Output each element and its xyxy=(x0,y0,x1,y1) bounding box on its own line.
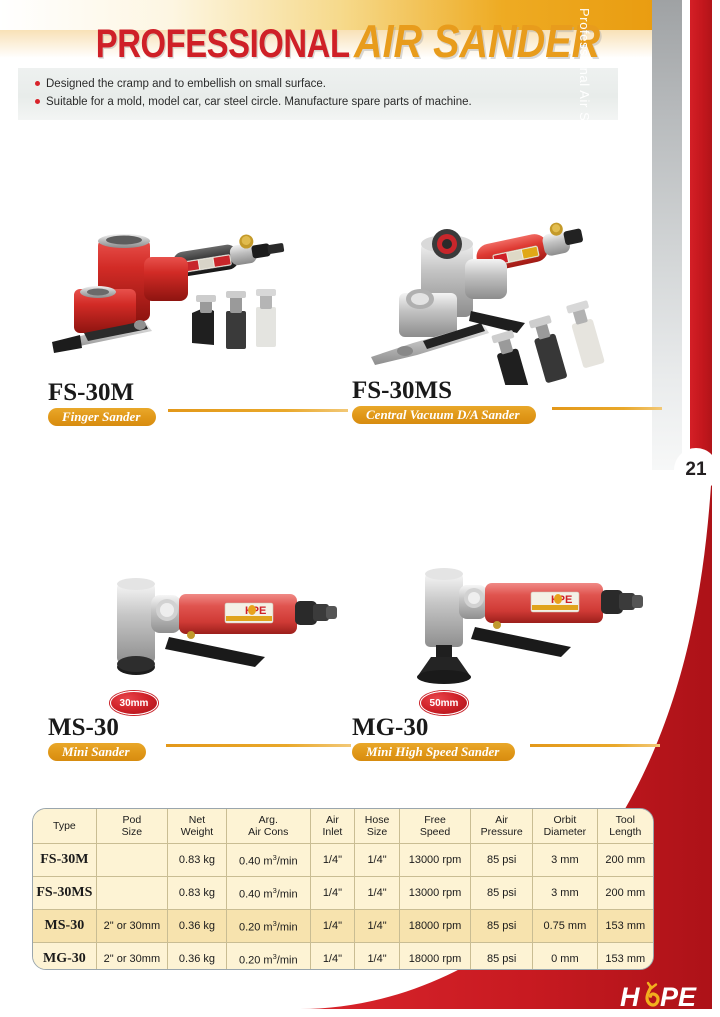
cell-net-weight: 0.83 kg xyxy=(168,844,227,877)
cell-air-pressure: 85 psi xyxy=(471,877,533,910)
cell-pod-size: 2" or 30mm xyxy=(96,943,167,971)
col-header-air-cons: Arg. Air Cons xyxy=(226,809,310,844)
cell-air-cons: 0.40 m3/min xyxy=(226,877,310,910)
cell-air-pressure: 85 psi xyxy=(471,910,533,943)
cell-hose-size: 1/4" xyxy=(355,910,400,943)
sidebar-red-strip xyxy=(690,0,712,475)
product-label-mg-30: MG-30 Mini High Speed Sander xyxy=(352,715,662,761)
cell-tool-length: 200 mm xyxy=(597,877,653,910)
cell-air-pressure: 85 psi xyxy=(471,844,533,877)
product-model-name: FS-30M xyxy=(48,380,348,406)
product-subtitle: Mini Sander xyxy=(48,743,146,761)
cell-orbit-diameter: 0.75 mm xyxy=(533,910,597,943)
cell-free-speed: 18000 rpm xyxy=(399,943,470,971)
product-model-name: MG-30 xyxy=(352,715,662,741)
product-label-ms-30: MS-30 Mini Sander xyxy=(48,715,348,761)
cell-type: MS-30 xyxy=(33,910,96,943)
col-header-hose-size: Hose Size xyxy=(355,809,400,844)
hope-logo-text-pe: PE xyxy=(660,982,697,1012)
title-professional: PROFESSIONAL xyxy=(96,22,350,67)
sidebar-vertical-text: Professional Air Sander xyxy=(577,8,592,158)
cell-pod-size xyxy=(96,877,167,910)
feature-box: Designed the cramp and to embellish on s… xyxy=(18,68,618,120)
cell-air-inlet: 1/4" xyxy=(310,910,355,943)
product-subtitle: Central Vacuum D/A Sander xyxy=(352,406,536,424)
product-label-fs-30m: FS-30M Finger Sander xyxy=(48,380,348,426)
spec-table-body: FS-30M 0.83 kg 0.40 m3/min 1/4" 1/4" 130… xyxy=(33,844,653,971)
cell-air-inlet: 1/4" xyxy=(310,844,355,877)
product-subtitle-row: Finger Sander xyxy=(48,408,348,426)
page-right-white-edge xyxy=(712,0,720,1017)
feature-list: Designed the cramp and to embellish on s… xyxy=(18,68,618,111)
product-subtitle-row: Central Vacuum D/A Sander xyxy=(352,406,662,424)
list-item: Designed the cramp and to embellish on s… xyxy=(46,75,618,93)
cell-type: FS-30M xyxy=(33,844,96,877)
cell-pod-size xyxy=(96,844,167,877)
table-row: FS-30M 0.83 kg 0.40 m3/min 1/4" 1/4" 130… xyxy=(33,844,653,877)
product-photo-fs-30ms xyxy=(365,215,665,385)
cell-air-inlet: 1/4" xyxy=(310,943,355,971)
product-photo-fs-30m xyxy=(40,215,340,375)
cell-orbit-diameter: 0 mm xyxy=(533,943,597,971)
col-header-net-weight: Net Weight xyxy=(168,809,227,844)
cell-orbit-diameter: 3 mm xyxy=(533,844,597,877)
cell-air-pressure: 85 psi xyxy=(471,943,533,971)
product-subtitle-row: Mini High Speed Sander xyxy=(352,743,662,761)
product-subtitle: Finger Sander xyxy=(48,408,156,426)
cell-net-weight: 0.36 kg xyxy=(168,910,227,943)
cell-type: FS-30MS xyxy=(33,877,96,910)
cell-hose-size: 1/4" xyxy=(355,943,400,971)
col-header-tool-length: Tool Length xyxy=(597,809,653,844)
col-header-air-inlet: Air Inlet xyxy=(310,809,355,844)
hope-logo-text-h: H xyxy=(620,982,640,1012)
bullet-icon xyxy=(35,81,40,86)
list-item: Suitable for a mold, model car, car stee… xyxy=(46,93,618,111)
product-photo-mg-30: H PE xyxy=(405,565,655,705)
label-tail-line xyxy=(166,744,351,747)
cell-tool-length: 153 mm xyxy=(597,943,653,971)
spec-table-container: Type Pod Size Net Weight Arg. Air Cons xyxy=(32,808,654,970)
table-row: FS-30MS 0.83 kg 0.40 m3/min 1/4" 1/4" 13… xyxy=(33,877,653,910)
cell-air-cons: 0.20 m3/min xyxy=(226,910,310,943)
cell-type: MG-30 xyxy=(33,943,96,971)
col-header-pod-size: Pod Size xyxy=(96,809,167,844)
cell-free-speed: 18000 rpm xyxy=(399,910,470,943)
cell-free-speed: 13000 rpm xyxy=(399,844,470,877)
cell-net-weight: 0.36 kg xyxy=(168,943,227,971)
spec-table: Type Pod Size Net Weight Arg. Air Cons xyxy=(33,809,653,970)
product-model-name: MS-30 xyxy=(48,715,348,741)
hope-logo: H PE xyxy=(620,979,706,1013)
table-row: MS-30 2" or 30mm 0.36 kg 0.20 m3/min 1/4… xyxy=(33,910,653,943)
label-tail-line xyxy=(530,744,660,747)
catalog-page: PROFESSIONALAIR SANDER Designed the cram… xyxy=(0,0,720,1017)
table-header-row: Type Pod Size Net Weight Arg. Air Cons xyxy=(33,809,653,844)
cell-air-inlet: 1/4" xyxy=(310,877,355,910)
cell-tool-length: 200 mm xyxy=(597,844,653,877)
cell-air-cons: 0.20 m3/min xyxy=(226,943,310,971)
cell-pod-size: 2" or 30mm xyxy=(96,910,167,943)
title-air-sander: AIR SANDER xyxy=(354,14,600,68)
hope-logo-flame-icon xyxy=(647,983,658,1005)
col-header-orbit-diameter: Orbit Diameter xyxy=(533,809,597,844)
cell-orbit-diameter: 3 mm xyxy=(533,877,597,910)
product-size-badge-ms-30: 30mm xyxy=(110,691,158,715)
feature-text: Suitable for a mold, model car, car stee… xyxy=(46,96,472,108)
label-tail-line xyxy=(552,407,662,410)
cell-free-speed: 13000 rpm xyxy=(399,877,470,910)
product-size-badge-mg-30: 50mm xyxy=(420,691,468,715)
feature-text: Designed the cramp and to embellish on s… xyxy=(46,78,326,90)
col-header-air-pressure: Air Pressure xyxy=(471,809,533,844)
page-title: PROFESSIONALAIR SANDER xyxy=(0,14,640,66)
cell-net-weight: 0.83 kg xyxy=(168,877,227,910)
product-model-name: FS-30MS xyxy=(352,378,662,404)
product-label-fs-30ms: FS-30MS Central Vacuum D/A Sander xyxy=(352,378,662,424)
page-number-badge: 21 xyxy=(674,448,718,492)
label-tail-line xyxy=(168,409,348,412)
cell-tool-length: 153 mm xyxy=(597,910,653,943)
product-subtitle-row: Mini Sander xyxy=(48,743,348,761)
bullet-icon xyxy=(35,99,40,104)
cell-hose-size: 1/4" xyxy=(355,844,400,877)
col-header-type: Type xyxy=(33,809,96,844)
col-header-free-speed: Free Speed xyxy=(399,809,470,844)
product-photo-ms-30: H PE xyxy=(95,565,345,705)
cell-air-cons: 0.40 m3/min xyxy=(226,844,310,877)
table-row: MG-30 2" or 30mm 0.36 kg 0.20 m3/min 1/4… xyxy=(33,943,653,971)
product-subtitle: Mini High Speed Sander xyxy=(352,743,515,761)
cell-hose-size: 1/4" xyxy=(355,877,400,910)
